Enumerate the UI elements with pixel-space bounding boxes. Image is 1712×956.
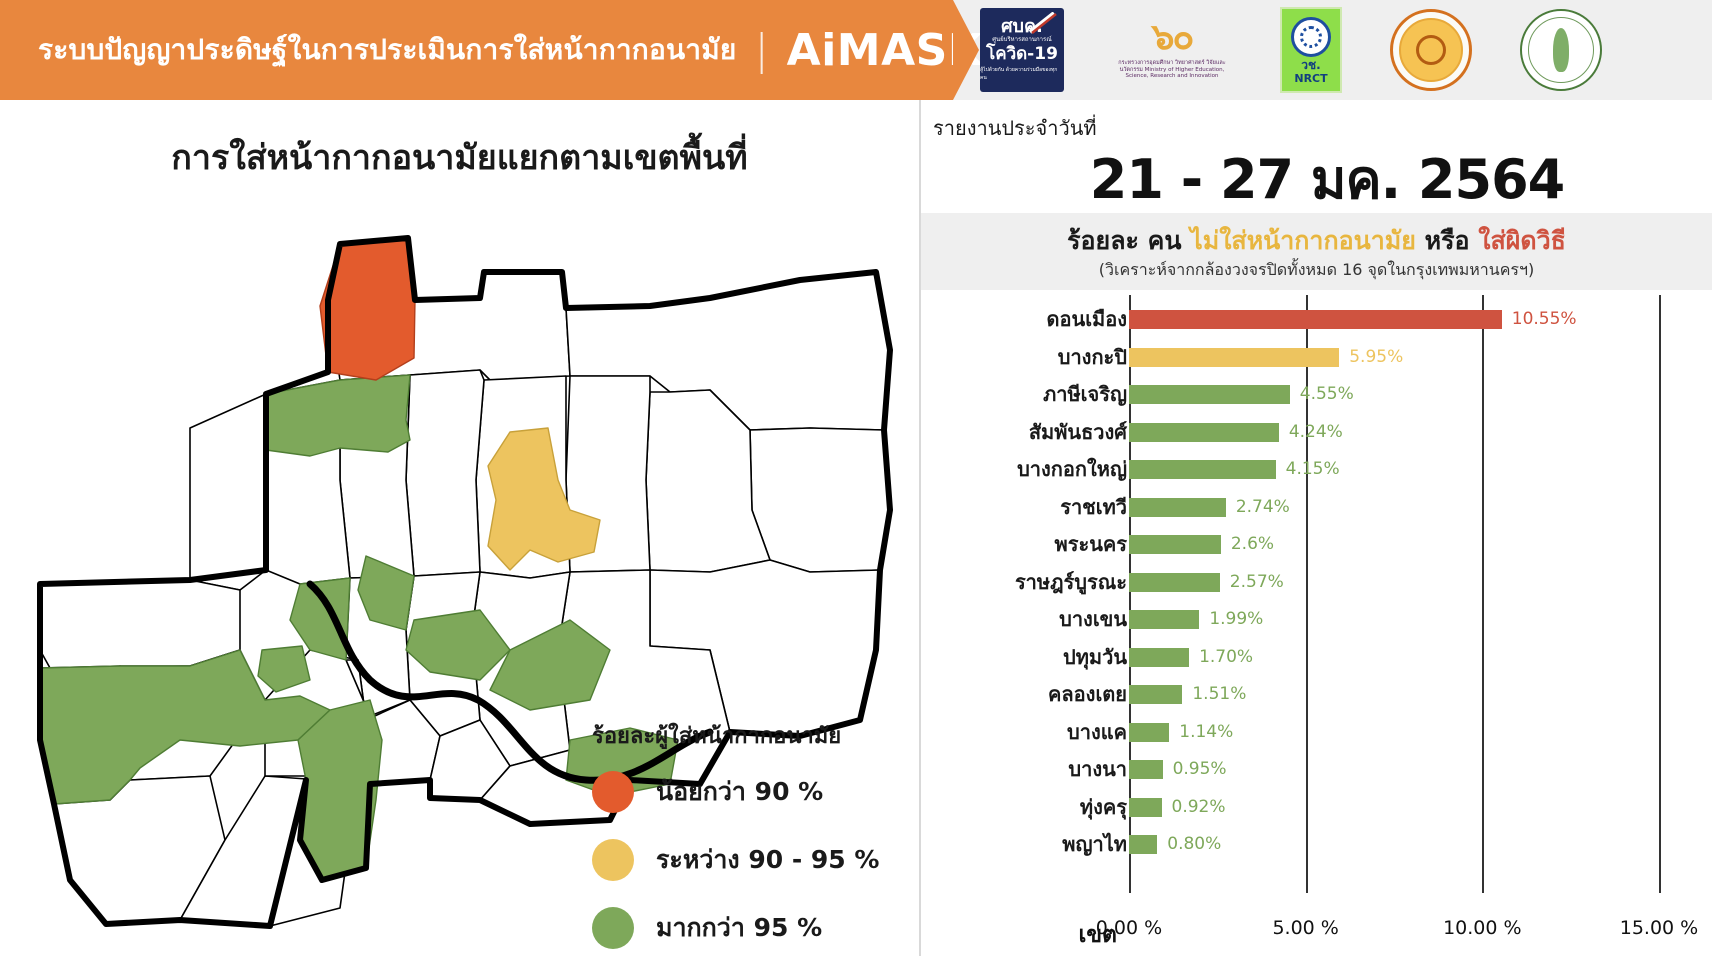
bar[interactable] bbox=[1129, 798, 1162, 817]
dharma-wheel-icon bbox=[1416, 35, 1446, 65]
bar-row[interactable]: พระนคร2.6% bbox=[1129, 526, 1712, 563]
bar-row[interactable]: ราชเทวี2.74% bbox=[1129, 489, 1712, 526]
bar-row[interactable]: บางนา0.95% bbox=[1129, 751, 1712, 788]
sbc-tagline: สู้ไปด้วยกัน ด้วยความร่วมมือของทุกคน bbox=[980, 66, 1064, 82]
mhesi-logo: ๖๐ กระทรวงการอุดมศึกษา วิทยาศาสตร์ วิจัย… bbox=[1112, 8, 1232, 92]
page-header: ระบบปัญญาประดิษฐ์ในการประเมินการใส่หน้าก… bbox=[0, 0, 1712, 100]
bar-value-label: 1.99% bbox=[1209, 601, 1263, 638]
subtitle-part-1: ไม่ใส่หน้ากากอนามัย bbox=[1190, 226, 1416, 255]
mhesi-caption: กระทรวงการอุดมศึกษา วิทยาศาสตร์ วิจัยและ… bbox=[1112, 60, 1232, 81]
legend-title: ร้อยละผู้ใส่หน้ากากอนามัย bbox=[592, 718, 922, 753]
subtitle-part-3: ใส่ผิดวิธี bbox=[1478, 226, 1566, 255]
bar-row[interactable]: ทุ่งครุ0.92% bbox=[1129, 789, 1712, 826]
nrct-logo: วช. NRCT bbox=[1280, 7, 1342, 93]
bar-category-label: บางแค bbox=[927, 714, 1127, 751]
chart-x-axis: 0.00 %5.00 %10.00 %15.00 % bbox=[1129, 907, 1712, 956]
legend-swatch-green bbox=[592, 907, 634, 949]
bar[interactable] bbox=[1129, 460, 1276, 479]
aimask-dashboard: ระบบปัญญาประดิษฐ์ในการประเมินการใส่หน้าก… bbox=[0, 0, 1712, 956]
bar-row[interactable]: บางกะปิ5.95% bbox=[1129, 339, 1712, 376]
x-tick-label: 15.00 % bbox=[1620, 917, 1699, 939]
thai-flag-ribbon-icon bbox=[1028, 12, 1058, 34]
bar-category-label: พระนคร bbox=[927, 526, 1127, 563]
map-title: การใส่หน้ากากอนามัยแยกตามเขตพื้นที่ bbox=[0, 130, 919, 184]
bar[interactable] bbox=[1129, 348, 1339, 367]
subtitle-part-2: หรือ bbox=[1416, 226, 1478, 255]
bar-category-label: ดอนเมือง bbox=[927, 301, 1127, 338]
bar-category-label: สัมพันธวงศ์ bbox=[927, 414, 1127, 451]
legend-label-low: น้อยกว่า 90 % bbox=[656, 772, 823, 812]
header-banner: ระบบปัญญาประดิษฐ์ในการประเมินการใส่หน้าก… bbox=[0, 0, 953, 100]
bar[interactable] bbox=[1129, 423, 1279, 442]
legend-item-low[interactable]: น้อยกว่า 90 % bbox=[592, 771, 922, 813]
brand-name: AiMASK bbox=[787, 25, 983, 76]
bar-value-label: 0.95% bbox=[1173, 751, 1227, 788]
legend-item-medium[interactable]: ระหว่าง 90 - 95 % bbox=[592, 839, 922, 881]
bar-value-label: 2.74% bbox=[1236, 489, 1290, 526]
legend-item-high[interactable]: มากกว่า 95 % bbox=[592, 907, 922, 949]
header-separator: | bbox=[755, 29, 769, 71]
map-legend: ร้อยละผู้ใส่หน้ากากอนามัย น้อยกว่า 90 % … bbox=[592, 718, 922, 956]
bar[interactable] bbox=[1129, 385, 1290, 404]
bar-value-label: 0.92% bbox=[1172, 789, 1226, 826]
bar-row[interactable]: สัมพันธวงศ์4.24% bbox=[1129, 414, 1712, 451]
chart-note: (วิเคราะห์จากกล้องวงจรปิดทั้งหมด 16 จุดใ… bbox=[921, 258, 1712, 283]
partner-logos: ศบค. ศูนย์บริหารสถานการณ์ โควิด-19 สู้ไป… bbox=[960, 0, 1712, 100]
mhesi-numeral: ๖๐ bbox=[1152, 20, 1193, 56]
bar-row[interactable]: ดอนเมือง10.55% bbox=[1129, 301, 1712, 338]
chart-y-axis-title: เขต bbox=[921, 907, 1117, 953]
bar-value-label: 2.57% bbox=[1230, 564, 1284, 601]
bar-category-label: บางเขน bbox=[927, 601, 1127, 638]
nrct-seal-icon bbox=[1291, 17, 1331, 57]
bar[interactable] bbox=[1129, 685, 1182, 704]
bar[interactable] bbox=[1129, 610, 1199, 629]
bar-value-label: 4.24% bbox=[1289, 414, 1343, 451]
legend-label-high: มากกว่า 95 % bbox=[656, 908, 822, 948]
nrct-eng-abbrev: NRCT bbox=[1294, 73, 1327, 84]
bar-value-label: 1.51% bbox=[1192, 676, 1246, 713]
bar[interactable] bbox=[1129, 648, 1189, 667]
bar-row[interactable]: ปทุมวัน1.70% bbox=[1129, 639, 1712, 676]
thammasat-university-logo bbox=[1390, 9, 1472, 91]
district-bar-chart[interactable]: ดอนเมือง10.55%บางกะปิ5.95%ภาษีเจริญ4.55%… bbox=[921, 295, 1712, 956]
subtitle-part-0: ร้อยละ คน bbox=[1067, 226, 1190, 255]
bar-value-label: 0.80% bbox=[1167, 826, 1221, 863]
bar-category-label: ราชเทวี bbox=[927, 489, 1127, 526]
bar-category-label: บางกะปิ bbox=[927, 339, 1127, 376]
chart-subtitle: ร้อยละ คน ไม่ใส่หน้ากากอนามัย หรือ ใส่ผิ… bbox=[921, 221, 1712, 261]
chart-plot-area: ดอนเมือง10.55%บางกะปิ5.95%ภาษีเจริญ4.55%… bbox=[1129, 295, 1712, 905]
x-tick-label: 5.00 % bbox=[1272, 917, 1338, 939]
bar-category-label: ทุ่งครุ bbox=[927, 789, 1127, 826]
bar-value-label: 1.14% bbox=[1179, 714, 1233, 751]
legend-swatch-red bbox=[592, 771, 634, 813]
bar-value-label: 4.55% bbox=[1300, 376, 1354, 413]
bar[interactable] bbox=[1129, 723, 1169, 742]
chart-panel: รายงานประจำวันที่ 21 - 27 มค. 2564 ร้อยล… bbox=[921, 100, 1712, 956]
bar-category-label: บางกอกใหญ่ bbox=[927, 451, 1127, 488]
bar-row[interactable]: บางกอกใหญ่4.15% bbox=[1129, 451, 1712, 488]
bar-value-label: 1.70% bbox=[1199, 639, 1253, 676]
bar[interactable] bbox=[1129, 760, 1163, 779]
bar-value-label: 5.95% bbox=[1349, 339, 1403, 376]
bangkok-metropolitan-administration-logo bbox=[1520, 9, 1602, 91]
bar-row[interactable]: คลองเตย1.51% bbox=[1129, 676, 1712, 713]
sbc-fullname: ศูนย์บริหารสถานการณ์ bbox=[992, 37, 1052, 44]
bar[interactable] bbox=[1129, 498, 1226, 517]
bar-row[interactable]: บางแค1.14% bbox=[1129, 714, 1712, 751]
bar[interactable] bbox=[1129, 835, 1157, 854]
bar-row[interactable]: ภาษีเจริญ4.55% bbox=[1129, 376, 1712, 413]
bar[interactable] bbox=[1129, 535, 1221, 554]
bar-row[interactable]: พญาไท0.80% bbox=[1129, 826, 1712, 863]
bar-row[interactable]: บางเขน1.99% bbox=[1129, 601, 1712, 638]
bar-category-label: ปทุมวัน bbox=[927, 639, 1127, 676]
sbc-covid-label: โควิด-19 bbox=[986, 45, 1058, 64]
bar-category-label: ภาษีเจริญ bbox=[927, 376, 1127, 413]
bar-value-label: 4.15% bbox=[1286, 451, 1340, 488]
subtitle-band: ร้อยละ คน ไม่ใส่หน้ากากอนามัย หรือ ใส่ผิ… bbox=[921, 213, 1712, 290]
legend-label-medium: ระหว่าง 90 - 95 % bbox=[656, 840, 879, 880]
legend-swatch-yellow bbox=[592, 839, 634, 881]
sbc-covid19-logo: ศบค. ศูนย์บริหารสถานการณ์ โควิด-19 สู้ไป… bbox=[980, 8, 1064, 92]
bar-value-label: 10.55% bbox=[1512, 301, 1577, 338]
bar-row[interactable]: ราษฎร์บูรณะ2.57% bbox=[1129, 564, 1712, 601]
nrct-thai-abbrev: วช. bbox=[1301, 59, 1320, 71]
bar[interactable] bbox=[1129, 573, 1220, 592]
bar-value-label: 2.6% bbox=[1231, 526, 1274, 563]
header-title: ระบบปัญญาประดิษฐ์ในการประเมินการใส่หน้าก… bbox=[38, 28, 737, 72]
report-date: 21 - 27 มค. 2564 bbox=[957, 136, 1697, 222]
bar-category-label: คลองเตย bbox=[927, 676, 1127, 713]
bar-category-label: ราษฎร์บูรณะ bbox=[927, 564, 1127, 601]
bar-category-label: พญาไท bbox=[927, 826, 1127, 863]
map-panel: การใส่หน้ากากอนามัยแยกตามเขตพื้นที่ bbox=[0, 100, 919, 956]
bar-category-label: บางนา bbox=[927, 751, 1127, 788]
bar[interactable] bbox=[1129, 310, 1502, 329]
x-tick-label: 10.00 % bbox=[1443, 917, 1522, 939]
